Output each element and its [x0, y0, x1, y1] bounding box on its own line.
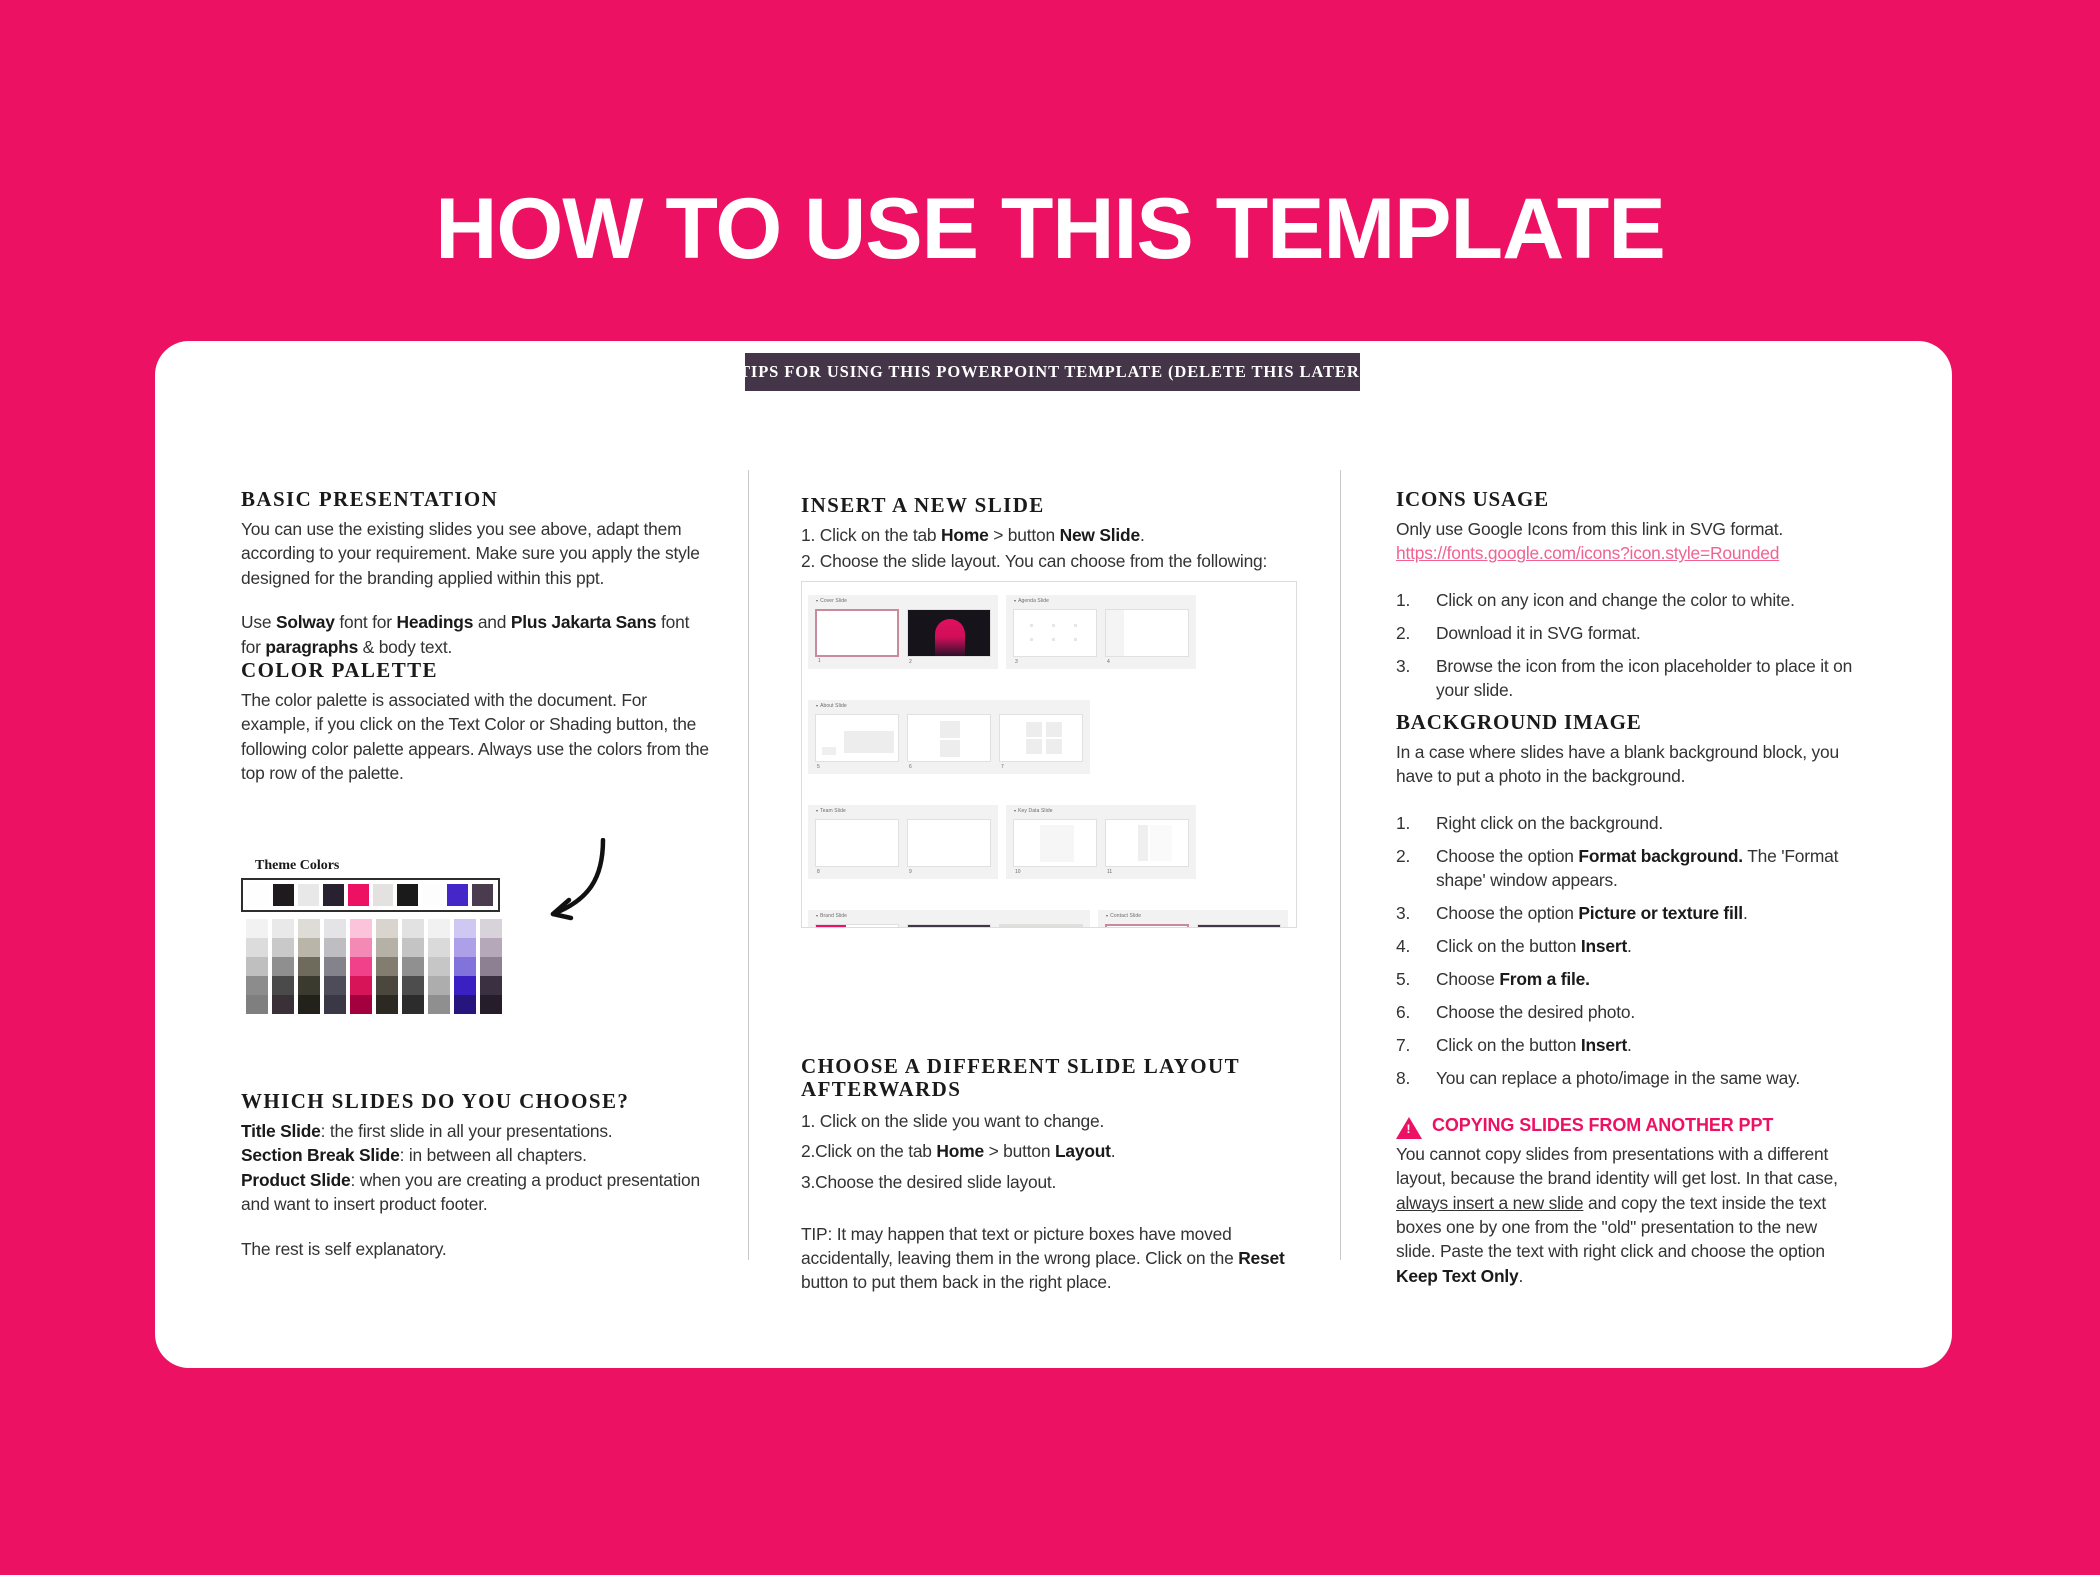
slide-thumbnail-7[interactable]: 7 [999, 714, 1083, 762]
tint-swatch-4-4[interactable] [324, 976, 346, 995]
layout-step-2-end: . [1111, 1141, 1116, 1161]
slide-thumbnail-15[interactable]: 15 [1105, 924, 1189, 928]
tint-column-10 [480, 919, 502, 1014]
column-divider-right [1340, 470, 1341, 1260]
tint-swatch-4-3[interactable] [324, 957, 346, 976]
thumbnail-group-6: Brand Slide121314 [808, 910, 1090, 928]
thumbnail-group-label-2: Agenda Slide [1014, 598, 1049, 604]
layout-button-label: Layout [1055, 1141, 1111, 1161]
layout-step-2: 2.Click on the tab Home > button Layout. [801, 1137, 1301, 1165]
tint-swatch-1-1[interactable] [246, 919, 268, 938]
warning-text-1: You cannot copy slides from presentation… [1396, 1144, 1838, 1188]
background-step-3: 3.Choose the option Picture or texture f… [1396, 901, 1856, 925]
theme-swatch-7[interactable] [397, 884, 418, 906]
tint-swatch-10-3[interactable] [480, 957, 502, 976]
font-usage-end: & body text. [358, 637, 452, 657]
tint-swatch-5-5[interactable] [350, 995, 372, 1014]
slide-layout-thumbnail-panel[interactable]: Cover Slide12Agenda Slide34About Slide56… [801, 581, 1297, 928]
insert-new-slide-list: 1. Click on the tab Home > button New Sl… [801, 523, 1293, 574]
slide-thumbnail-1[interactable]: 1 [815, 609, 899, 657]
background-step-text-1: Right click on the background. [1436, 813, 1663, 833]
slide-thumbnail-13[interactable]: 13 [907, 924, 991, 928]
slide-thumbnail-number-6: 6 [909, 764, 912, 770]
reset-button-label: Reset [1238, 1248, 1284, 1268]
background-step-text-2: Choose the option [1436, 846, 1578, 866]
icons-step-1: 1.Click on any icon and change the color… [1396, 588, 1856, 612]
theme-colors-widget: Theme Colors [241, 858, 521, 1014]
slide-thumbnail-number-11: 11 [1107, 869, 1112, 875]
theme-swatch-10[interactable] [472, 884, 493, 906]
warning-title: COPYING SLIDES FROM ANOTHER PPT [1432, 1116, 1773, 1136]
icons-step-3: 3.Browse the icon from the icon placehol… [1396, 654, 1856, 702]
icons-usage-steps: 1.Click on any icon and change the color… [1396, 588, 1856, 702]
theme-swatch-6[interactable] [373, 884, 394, 906]
tint-swatch-2-5[interactable] [272, 995, 294, 1014]
basic-presentation-heading: BASIC PRESENTATION [241, 488, 709, 511]
tint-swatch-4-2[interactable] [324, 938, 346, 957]
theme-colors-top-row[interactable] [241, 878, 500, 912]
background-step-6: 6.Choose the desired photo. [1396, 1000, 1856, 1024]
thumbnail-row-3: Team Slide89Key Data Slide1011 [802, 792, 1296, 889]
background-step-5: 5.Choose From a file. [1396, 967, 1856, 991]
background-step-7: 7.Click on the button Insert. [1396, 1033, 1856, 1057]
slide-thumbnail-8[interactable]: 8 [815, 819, 899, 867]
font-plus-jakarta: Plus Jakarta Sans [511, 612, 656, 632]
thumbnail-group-label-3: About Slide [816, 703, 847, 709]
icons-step-number-2: 2. [1396, 621, 1410, 645]
tint-swatch-5-3[interactable] [350, 957, 372, 976]
tint-swatch-6-1[interactable] [376, 919, 398, 938]
reset-tip-paragraph: TIP: It may happen that text or picture … [801, 1222, 1301, 1295]
arrow-pointing-to-palette [531, 838, 661, 948]
tint-column-2 [272, 919, 294, 1014]
choose-layout-list: 1. Click on the slide you want to change… [801, 1107, 1301, 1196]
background-step-text-6: Choose the desired photo. [1436, 1002, 1635, 1022]
insert-step-1-end: . [1140, 525, 1145, 545]
icons-step-text-3: Browse the icon from the icon placeholde… [1436, 656, 1852, 700]
color-palette-paragraph: The color palette is associated with the… [241, 688, 709, 785]
warning-underlined-phrase: always insert a new slide [1396, 1193, 1583, 1213]
slide-thumbnail-number-9: 9 [909, 869, 912, 875]
which-slides-block: WHICH SLIDES DO YOU CHOOSE? Title Slide:… [241, 1090, 721, 1261]
background-image-paragraph: In a case where slides have a blank back… [1396, 740, 1856, 789]
tint-swatch-4-5[interactable] [324, 995, 346, 1014]
insert-step-2: 2. Choose the slide layout. You can choo… [801, 549, 1293, 573]
tint-swatch-2-1[interactable] [272, 919, 294, 938]
basic-presentation-paragraph: You can use the existing slides you see … [241, 517, 709, 590]
slide-thumbnail-number-8: 8 [817, 869, 820, 875]
tint-swatch-10-2[interactable] [480, 938, 502, 957]
background-step-number-2: 2. [1396, 844, 1410, 868]
layout-step-2-mid: > button [984, 1141, 1055, 1161]
tint-swatch-4-1[interactable] [324, 919, 346, 938]
layout-step-2-pre: 2.Click on the tab [801, 1141, 936, 1161]
tint-column-5 [350, 919, 372, 1014]
thumbnail-group-4: Team Slide89 [808, 805, 998, 879]
slide-thumbnail-16[interactable]: 16 [1197, 924, 1281, 928]
background-step-post-4: . [1627, 936, 1632, 956]
section-break-label: Section Break Slide [241, 1145, 400, 1165]
background-image-heading: BACKGROUND IMAGE [1396, 711, 1856, 734]
thumbnail-row-1: Cover Slide12Agenda Slide34 [802, 582, 1296, 679]
theme-swatch-2[interactable] [273, 884, 294, 906]
background-step-8: 8.You can replace a photo/image in the s… [1396, 1066, 1856, 1090]
tint-swatch-7-5[interactable] [402, 995, 424, 1014]
theme-swatch-1[interactable] [248, 884, 269, 906]
slide-thumbnail-6[interactable]: 6 [907, 714, 991, 762]
tint-swatch-3-4[interactable] [298, 976, 320, 995]
warning-header: COPYING SLIDES FROM ANOTHER PPT [1396, 1116, 1856, 1139]
icons-usage-link-line: https://fonts.google.com/icons?icon.styl… [1396, 541, 1856, 565]
thumbnail-group-label-4: Team Slide [816, 808, 846, 814]
background-step-text-7: Click on the button [1436, 1035, 1581, 1055]
slide-thumbnail-number-4: 4 [1107, 659, 1110, 665]
tint-swatch-1-4[interactable] [246, 976, 268, 995]
tint-swatch-6-2[interactable] [376, 938, 398, 957]
tips-banner: TIPS FOR USING THIS POWERPOINT TEMPLATE … [745, 353, 1360, 391]
thumbnail-group-label-6: Brand Slide [816, 913, 847, 919]
page-title: HOW TO USE THIS TEMPLATE [0, 186, 2100, 272]
background-step-2: 2.Choose the option Format background. T… [1396, 844, 1856, 892]
background-step-bold-3: Picture or texture fill [1578, 903, 1743, 923]
copying-slides-warning: COPYING SLIDES FROM ANOTHER PPT You cann… [1396, 1116, 1856, 1288]
icons-step-text-2: Download it in SVG format. [1436, 623, 1641, 643]
background-step-number-8: 8. [1396, 1066, 1410, 1090]
middle-column: INSERT A NEW SLIDE 1. Click on the tab H… [801, 494, 1293, 576]
icons-usage-heading: ICONS USAGE [1396, 488, 1856, 511]
which-slides-heading: WHICH SLIDES DO YOU CHOOSE? [241, 1090, 721, 1113]
column-divider-left [748, 470, 749, 1260]
tint-swatch-10-4[interactable] [480, 976, 502, 995]
icons-step-number-1: 1. [1396, 588, 1410, 612]
theme-swatch-4[interactable] [323, 884, 344, 906]
theme-swatch-3[interactable] [298, 884, 319, 906]
tint-swatch-9-1[interactable] [454, 919, 476, 938]
thumbnail-group-1: Cover Slide12 [808, 595, 998, 669]
font-usage-paragraph: Use Solway font for Headings and Plus Ja… [241, 610, 709, 659]
font-usage-pre: Use [241, 612, 276, 632]
product-slide-line: Product Slide: when you are creating a p… [241, 1168, 721, 1217]
font-solway: Solway [276, 612, 335, 632]
tint-swatch-7-2[interactable] [402, 938, 424, 957]
slide-thumbnail-number-5: 5 [817, 764, 820, 770]
thumbnail-group-label-5: Key Data Slide [1014, 808, 1053, 814]
tint-column-8 [428, 919, 450, 1014]
icons-step-text-1: Click on any icon and change the color t… [1436, 590, 1795, 610]
tint-swatch-8-1[interactable] [428, 919, 450, 938]
background-step-number-7: 7. [1396, 1033, 1410, 1057]
slide-thumbnail-5[interactable]: 5 [815, 714, 899, 762]
background-step-number-1: 1. [1396, 811, 1410, 835]
tint-swatch-3-1[interactable] [298, 919, 320, 938]
insert-step-1-mid: > button [989, 525, 1060, 545]
tint-swatch-8-2[interactable] [428, 938, 450, 957]
theme-swatch-9[interactable] [447, 884, 468, 906]
slide-thumbnail-9[interactable]: 9 [907, 819, 991, 867]
home-tab-label-2: Home [936, 1141, 984, 1161]
tint-swatch-9-3[interactable] [454, 957, 476, 976]
tint-swatch-6-5[interactable] [376, 995, 398, 1014]
thumbnail-group-3: About Slide567 [808, 700, 1090, 774]
thumbnail-group-7: Contact Slide1516 [1098, 910, 1288, 928]
thumbnail-row-2: About Slide567 [802, 687, 1296, 784]
slide-thumbnail-2[interactable]: 2 [907, 609, 991, 657]
title-slide-text: : the first slide in all your presentati… [321, 1121, 613, 1141]
home-tab-label: Home [941, 525, 989, 545]
layout-step-3: 3.Choose the desired slide layout. [801, 1168, 1301, 1196]
tint-swatch-5-4[interactable] [350, 976, 372, 995]
keep-text-only-label: Keep Text Only [1396, 1266, 1519, 1286]
tint-swatch-3-3[interactable] [298, 957, 320, 976]
font-headings: Headings [397, 612, 474, 632]
icons-step-number-3: 3. [1396, 654, 1410, 678]
background-step-number-6: 6. [1396, 1000, 1410, 1024]
tint-column-7 [402, 919, 424, 1014]
insert-step-1-pre: 1. Click on the tab [801, 525, 941, 545]
slide-thumbnail-number-10: 10 [1015, 869, 1021, 875]
tint-swatch-6-4[interactable] [376, 976, 398, 995]
slide-thumbnail-number-1: 1 [818, 658, 821, 664]
self-explanatory-text: The rest is self explanatory. [241, 1237, 721, 1261]
slide-thumbnail-number-3: 3 [1015, 659, 1018, 665]
tint-swatch-8-4[interactable] [428, 976, 450, 995]
tint-swatch-3-2[interactable] [298, 938, 320, 957]
tint-column-3 [298, 919, 320, 1014]
theme-swatch-8[interactable] [422, 884, 443, 906]
tint-swatch-9-2[interactable] [454, 938, 476, 957]
tips-banner-label: TIPS FOR USING THIS POWERPOINT TEMPLATE … [739, 362, 1366, 382]
theme-swatch-5[interactable] [348, 884, 369, 906]
section-break-text: : in between all chapters. [400, 1145, 587, 1165]
slide-thumbnail-11[interactable]: 11 [1105, 819, 1189, 867]
background-step-number-4: 4. [1396, 934, 1410, 958]
warning-text-3: . [1519, 1266, 1524, 1286]
background-step-1: 1.Right click on the background. [1396, 811, 1856, 835]
warning-paragraph: You cannot copy slides from presentation… [1396, 1142, 1856, 1288]
warning-triangle-icon [1396, 1117, 1422, 1139]
slide-thumbnail-4[interactable]: 4 [1105, 609, 1189, 657]
tint-swatch-2-4[interactable] [272, 976, 294, 995]
choose-layout-block: CHOOSE A DIFFERENT SLIDE LAYOUT AFTERWAR… [801, 1055, 1301, 1295]
background-step-number-5: 5. [1396, 967, 1410, 991]
tint-swatch-10-5[interactable] [480, 995, 502, 1014]
tint-swatch-7-1[interactable] [402, 919, 424, 938]
tint-column-4 [324, 919, 346, 1014]
section-break-line: Section Break Slide: in between all chap… [241, 1143, 721, 1167]
insert-new-slide-heading: INSERT A NEW SLIDE [801, 494, 1293, 517]
reset-tip-end: button to put them back in the right pla… [801, 1272, 1111, 1292]
insert-step-1: 1. Click on the tab Home > button New Sl… [801, 523, 1293, 547]
choose-layout-heading: CHOOSE A DIFFERENT SLIDE LAYOUT AFTERWAR… [801, 1055, 1301, 1101]
background-step-bold-2: Format background. [1578, 846, 1743, 866]
icons-usage-paragraph: Only use Google Icons from this link in … [1396, 517, 1856, 541]
tint-swatch-9-4[interactable] [454, 976, 476, 995]
background-step-text-8: You can replace a photo/image in the sam… [1436, 1068, 1800, 1088]
title-slide-label: Title Slide [241, 1121, 321, 1141]
tint-swatch-1-5[interactable] [246, 995, 268, 1014]
background-step-text-4: Click on the button [1436, 936, 1581, 956]
background-step-bold-4: Insert [1581, 936, 1627, 956]
left-column: BASIC PRESENTATION You can use the exist… [241, 488, 709, 785]
background-step-text-5: Choose [1436, 969, 1499, 989]
thumbnail-group-label-7: Contact Slide [1106, 913, 1141, 919]
product-slide-label: Product Slide [241, 1170, 351, 1190]
right-column: ICONS USAGE Only use Google Icons from t… [1396, 488, 1856, 1288]
reset-tip-pre: TIP: It may happen that text or picture … [801, 1224, 1238, 1268]
tint-swatch-5-1[interactable] [350, 919, 372, 938]
background-step-4: 4.Click on the button Insert. [1396, 934, 1856, 958]
tint-swatch-2-2[interactable] [272, 938, 294, 957]
background-step-number-3: 3. [1396, 901, 1410, 925]
background-step-text-3: Choose the option [1436, 903, 1578, 923]
background-step-post-7: . [1627, 1035, 1632, 1055]
slide-thumbnail-10[interactable]: 10 [1013, 819, 1097, 867]
thumbnail-group-5: Key Data Slide1011 [1006, 805, 1196, 879]
tint-column-1 [246, 919, 268, 1014]
theme-colors-tint-grid[interactable] [246, 919, 521, 1014]
slide-thumbnail-3[interactable]: 3 [1013, 609, 1097, 657]
tint-swatch-2-3[interactable] [272, 957, 294, 976]
font-usage-mid1: font for [335, 612, 397, 632]
background-step-post-3: . [1743, 903, 1748, 923]
font-usage-mid2: and [473, 612, 511, 632]
tint-swatch-8-5[interactable] [428, 995, 450, 1014]
font-paragraphs: paragraphs [265, 637, 358, 657]
new-slide-button-label: New Slide [1060, 525, 1140, 545]
thumbnail-group-label-1: Cover Slide [816, 598, 847, 604]
background-step-bold-7: Insert [1581, 1035, 1627, 1055]
thumbnail-row-4: Brand Slide121314Contact Slide1516 [802, 897, 1296, 928]
layout-step-1: 1. Click on the slide you want to change… [801, 1107, 1301, 1135]
tint-swatch-3-5[interactable] [298, 995, 320, 1014]
google-icons-link[interactable]: https://fonts.google.com/icons?icon.styl… [1396, 543, 1779, 563]
tint-column-6 [376, 919, 398, 1014]
tint-swatch-1-3[interactable] [246, 957, 268, 976]
tint-swatch-8-3[interactable] [428, 957, 450, 976]
icons-step-2: 2.Download it in SVG format. [1396, 621, 1856, 645]
tint-column-9 [454, 919, 476, 1014]
tint-swatch-1-2[interactable] [246, 938, 268, 957]
tint-swatch-5-2[interactable] [350, 938, 372, 957]
thumbnail-group-2: Agenda Slide34 [1006, 595, 1196, 669]
tint-swatch-7-4[interactable] [402, 976, 424, 995]
tint-swatch-6-3[interactable] [376, 957, 398, 976]
color-palette-heading: COLOR PALETTE [241, 659, 709, 682]
tint-swatch-7-3[interactable] [402, 957, 424, 976]
theme-colors-label: Theme Colors [255, 858, 521, 874]
tint-swatch-10-1[interactable] [480, 919, 502, 938]
tint-swatch-9-5[interactable] [454, 995, 476, 1014]
slide-thumbnail-14[interactable]: 14 [999, 924, 1083, 928]
slide-thumbnail-number-7: 7 [1001, 764, 1004, 770]
slide-thumbnail-12[interactable]: 12 [815, 924, 899, 928]
background-step-bold-5: From a file. [1499, 969, 1589, 989]
title-slide-line: Title Slide: the first slide in all your… [241, 1119, 721, 1143]
background-image-steps: 1.Right click on the background.2.Choose… [1396, 811, 1856, 1090]
slide-thumbnail-number-2: 2 [909, 659, 912, 665]
